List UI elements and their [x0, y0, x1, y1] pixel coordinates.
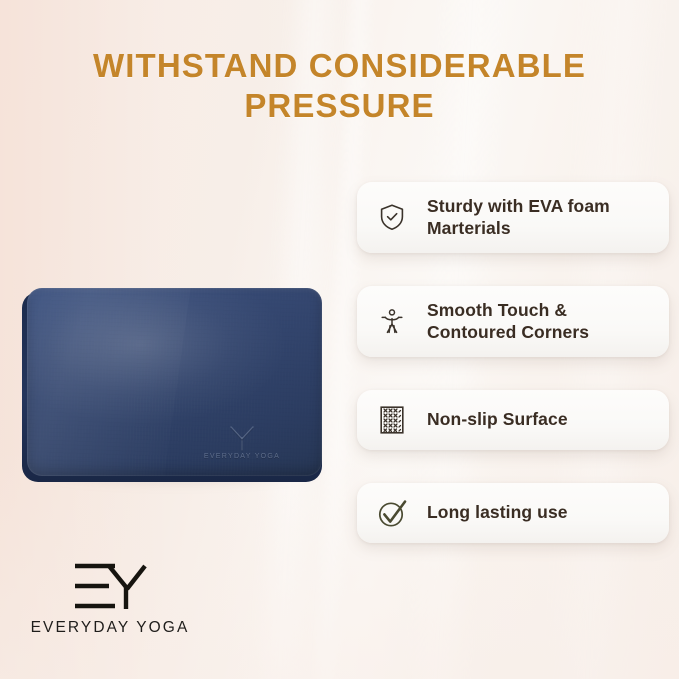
feature-card-label: Non-slip Surface: [427, 408, 568, 430]
embossed-brand-text: EVERYDAY YOGA: [186, 453, 298, 460]
feature-card-list: Sturdy with EVA foam Marterials Smooth T…: [357, 182, 679, 543]
textured-surface-icon: [375, 403, 409, 437]
feature-card-non-slip[interactable]: Non-slip Surface: [357, 390, 669, 450]
headline: Withstand Considerable Pressure: [48, 46, 631, 127]
embossed-y-mark: [227, 424, 257, 452]
product-block-front-face: EVERYDAY YOGA: [27, 288, 322, 476]
feature-card-label: Sturdy with EVA foam Marterials: [427, 195, 655, 240]
feature-card-long-lasting[interactable]: Long lasting use: [357, 483, 669, 543]
feature-card-smooth-touch[interactable]: Smooth Touch & Contoured Corners: [357, 286, 669, 357]
headline-line-2: Pressure: [244, 87, 434, 124]
check-circle-icon: [375, 496, 409, 530]
product-image: EVERYDAY YOGA: [22, 288, 322, 484]
brand-logo: EVERYDAY YOGA: [20, 560, 200, 637]
headline-line-1: Withstand Considerable: [93, 47, 586, 84]
human-figure-icon: [375, 304, 409, 338]
product-embossed-logo: EVERYDAY YOGA: [186, 424, 298, 460]
product-infographic: Withstand Considerable Pressure EVERYDAY…: [0, 0, 679, 679]
ey-monogram-icon: [71, 560, 149, 612]
shield-check-icon: [375, 200, 409, 234]
feature-card-label: Smooth Touch & Contoured Corners: [427, 299, 655, 344]
brand-name: EVERYDAY YOGA: [20, 619, 200, 637]
feature-card-label: Long lasting use: [427, 501, 568, 523]
feature-card-sturdy[interactable]: Sturdy with EVA foam Marterials: [357, 182, 669, 253]
